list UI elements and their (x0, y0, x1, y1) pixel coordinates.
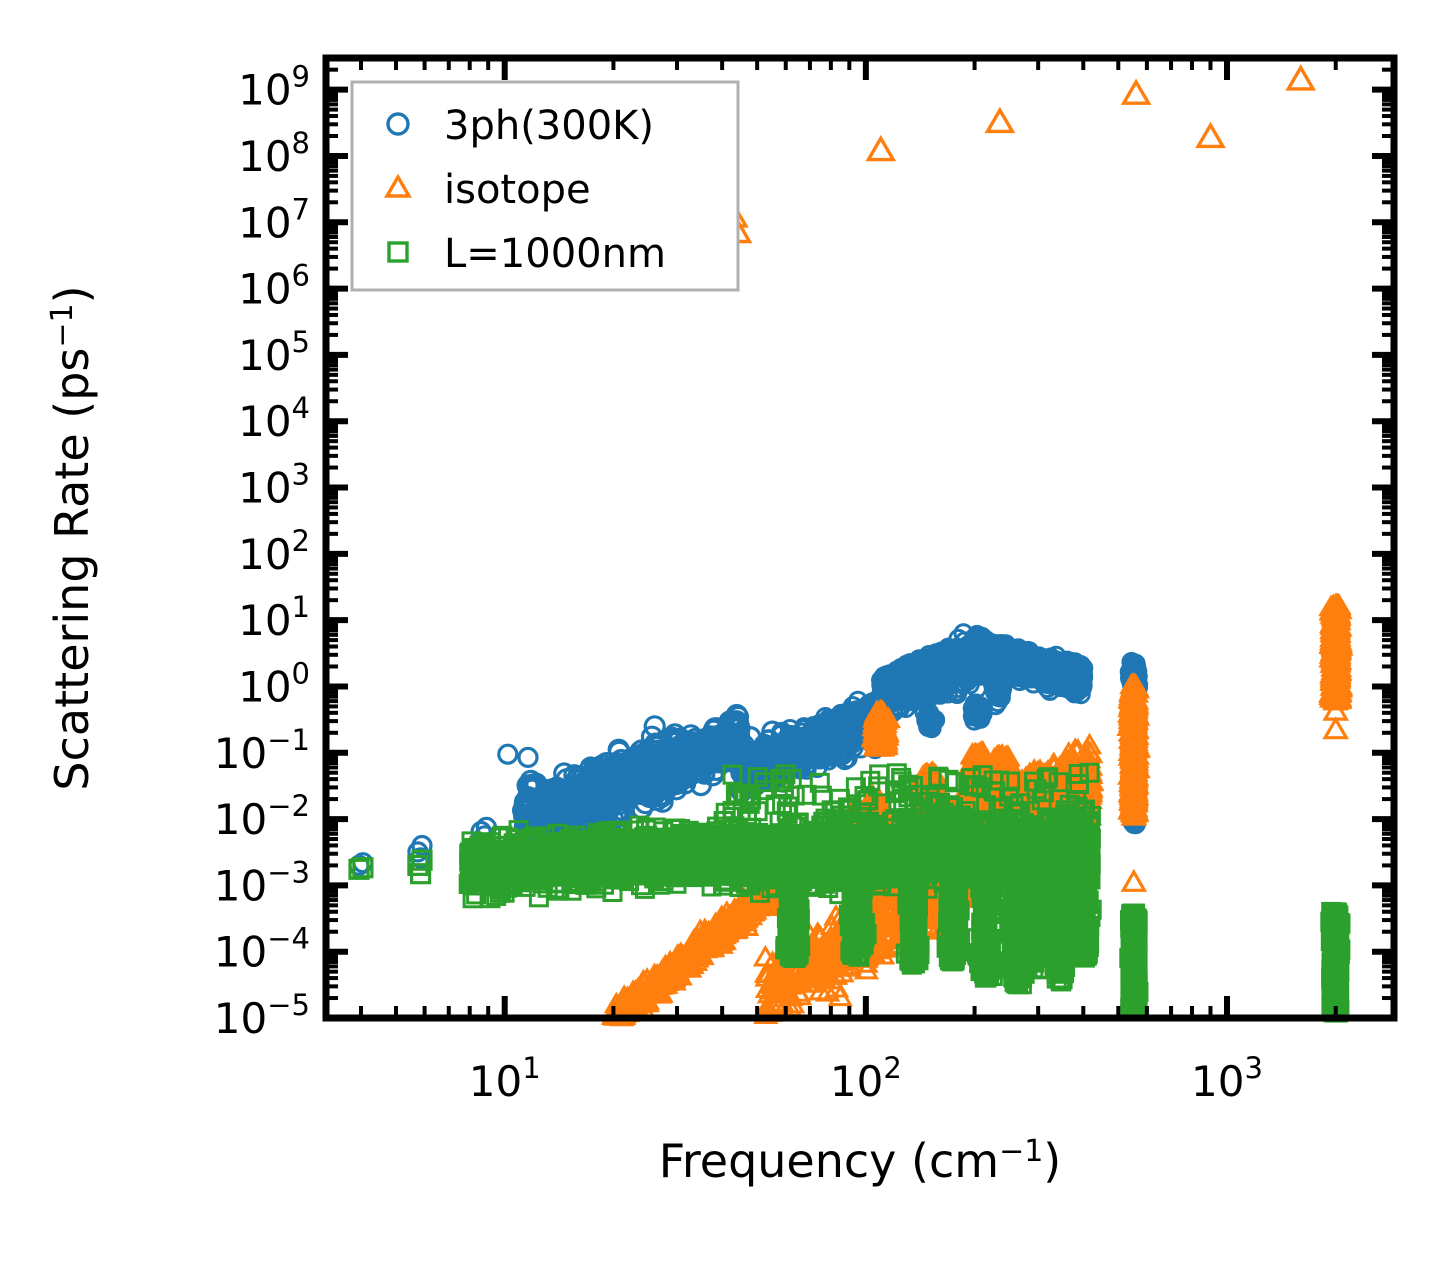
scatter-plot: 10910810710610510410310210110010−110−210… (0, 0, 1455, 1265)
figure-canvas: 10910810710610510410310210110010−110−210… (0, 0, 1455, 1265)
